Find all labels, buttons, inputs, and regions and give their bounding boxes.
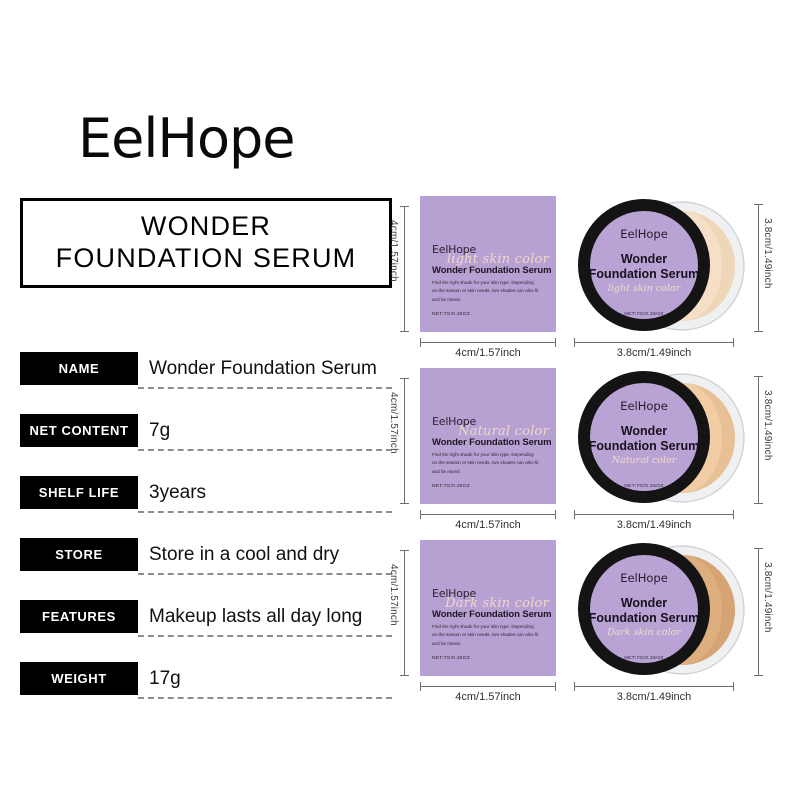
- product-jar-natural: EelHope Wonder Foundation Serum Natural …: [574, 364, 764, 510]
- spec-label: NET CONTENT: [20, 414, 138, 447]
- carton-shade-name: light skin color: [447, 252, 549, 267]
- page-title-line-1: WONDER: [141, 211, 271, 243]
- spec-row-store: STORE Store in a cool and dry: [20, 538, 392, 600]
- svg-text:Wonder: Wonder: [621, 252, 667, 266]
- spec-value: Wonder Foundation Serum: [138, 352, 392, 385]
- product-title-box: WONDER FOUNDATION SERUM: [20, 198, 392, 288]
- carton-net-weight: NET:7G/0.25OZ: [432, 484, 470, 489]
- spec-label: FEATURES: [20, 600, 138, 633]
- carton-shade-name: Natural color: [458, 424, 549, 439]
- spec-value: 3years: [138, 476, 392, 509]
- svg-text:Natural color: Natural color: [611, 455, 678, 466]
- svg-text:Foundation Serum: Foundation Serum: [589, 267, 699, 281]
- spec-underline: [138, 635, 392, 637]
- carton-label-content: EelHope Natural color Wonder Foundation …: [432, 416, 547, 476]
- jar-width-dimension-label: 3.8cm/1.49inch: [574, 691, 734, 703]
- svg-text:NET:7G/0.25OZ: NET:7G/0.25OZ: [624, 655, 663, 661]
- spec-row-weight: WEIGHT 17g: [20, 662, 392, 724]
- carton-width-dimension-line: [420, 342, 556, 343]
- page-title-line-2: FOUNDATION SERUM: [56, 243, 357, 275]
- product-carton-dark: EelHope Dark skin color Wonder Foundatio…: [420, 540, 556, 676]
- product-spec-sheet: EelHope WONDER FOUNDATION SERUM NAME Won…: [0, 0, 800, 800]
- jar-height-dimension-label: 3.8cm/1.49inch: [762, 562, 773, 633]
- jar-width-dimension-line: [574, 686, 734, 687]
- svg-text:Wonder: Wonder: [621, 424, 667, 438]
- spec-underline: [138, 573, 392, 575]
- jar-height-dimension-line: [758, 376, 759, 504]
- jar-height-dimension-line: [758, 548, 759, 676]
- carton-label-content: EelHope light skin color Wonder Foundati…: [432, 244, 547, 304]
- spec-label: WEIGHT: [20, 662, 138, 695]
- svg-text:Foundation Serum: Foundation Serum: [589, 611, 699, 625]
- svg-text:light skin color: light skin color: [608, 283, 682, 294]
- carton-net-weight: NET:7G/0.25OZ: [432, 656, 470, 661]
- spec-label: SHELF LIFE: [20, 476, 138, 509]
- svg-text:Wonder: Wonder: [621, 596, 667, 610]
- spec-row-features: FEATURES Makeup lasts all day long: [20, 600, 392, 662]
- carton-height-dimension-line: [404, 206, 405, 332]
- spec-value: 7g: [138, 414, 392, 447]
- carton-height-dimension-label: 4cm/1.57inch: [388, 220, 399, 282]
- carton-description: Find the right shade for your skin type.…: [432, 623, 540, 648]
- spec-label: STORE: [20, 538, 138, 571]
- jar-height-dimension-label: 3.8cm/1.49inch: [762, 390, 773, 461]
- carton-height-dimension-label: 4cm/1.57inch: [388, 564, 399, 626]
- spec-underline: [138, 387, 392, 389]
- carton-description: Find the right shade for your skin type.…: [432, 279, 540, 304]
- brand-logo: EelHope: [78, 112, 295, 166]
- product-carton-natural: EelHope Natural color Wonder Foundation …: [420, 368, 556, 504]
- svg-text:EelHope: EelHope: [620, 399, 668, 413]
- carton-width-dimension-label: 4cm/1.57inch: [420, 519, 556, 531]
- carton-width-dimension-line: [420, 514, 556, 515]
- svg-text:EelHope: EelHope: [620, 227, 668, 241]
- spec-value: 17g: [138, 662, 392, 695]
- spec-row-net-content: NET CONTENT 7g: [20, 414, 392, 476]
- jar-width-dimension-line: [574, 514, 734, 515]
- jar-height-dimension-label: 3.8cm/1.49inch: [762, 218, 773, 289]
- svg-text:NET:7G/0.25OZ: NET:7G/0.25OZ: [624, 483, 663, 489]
- product-jar-light: EelHope Wonder Foundation Serum light sk…: [574, 192, 764, 338]
- svg-text:Dark skin color: Dark skin color: [606, 627, 682, 638]
- carton-label-content: EelHope Dark skin color Wonder Foundatio…: [432, 588, 547, 648]
- carton-width-dimension-line: [420, 686, 556, 687]
- jar-height-dimension-line: [758, 204, 759, 332]
- spec-underline: [138, 511, 392, 513]
- svg-text:EelHope: EelHope: [620, 571, 668, 585]
- spec-row-name: NAME Wonder Foundation Serum: [20, 352, 392, 414]
- spec-value: Makeup lasts all day long: [138, 600, 392, 633]
- carton-height-dimension-line: [404, 378, 405, 504]
- spec-underline: [138, 449, 392, 451]
- svg-text:Foundation Serum: Foundation Serum: [589, 439, 699, 453]
- carton-shade-name: Dark skin color: [445, 596, 549, 611]
- carton-height-dimension-line: [404, 550, 405, 676]
- spec-value: Store in a cool and dry: [138, 538, 392, 571]
- product-carton-light: EelHope light skin color Wonder Foundati…: [420, 196, 556, 332]
- jar-width-dimension-line: [574, 342, 734, 343]
- jar-width-dimension-label: 3.8cm/1.49inch: [574, 347, 734, 359]
- carton-net-weight: NET:7G/0.25OZ: [432, 312, 470, 317]
- carton-height-dimension-label: 4cm/1.57inch: [388, 392, 399, 454]
- spec-label: NAME: [20, 352, 138, 385]
- specification-table: NAME Wonder Foundation Serum NET CONTENT…: [20, 352, 392, 724]
- spec-row-shelf-life: SHELF LIFE 3years: [20, 476, 392, 538]
- carton-width-dimension-label: 4cm/1.57inch: [420, 691, 556, 703]
- product-jar-dark: EelHope Wonder Foundation Serum Dark ski…: [574, 536, 764, 682]
- carton-description: Find the right shade for your skin type.…: [432, 451, 540, 476]
- carton-width-dimension-label: 4cm/1.57inch: [420, 347, 556, 359]
- jar-width-dimension-label: 3.8cm/1.49inch: [574, 519, 734, 531]
- svg-text:NET:7G/0.25OZ: NET:7G/0.25OZ: [624, 311, 663, 317]
- spec-underline: [138, 697, 392, 699]
